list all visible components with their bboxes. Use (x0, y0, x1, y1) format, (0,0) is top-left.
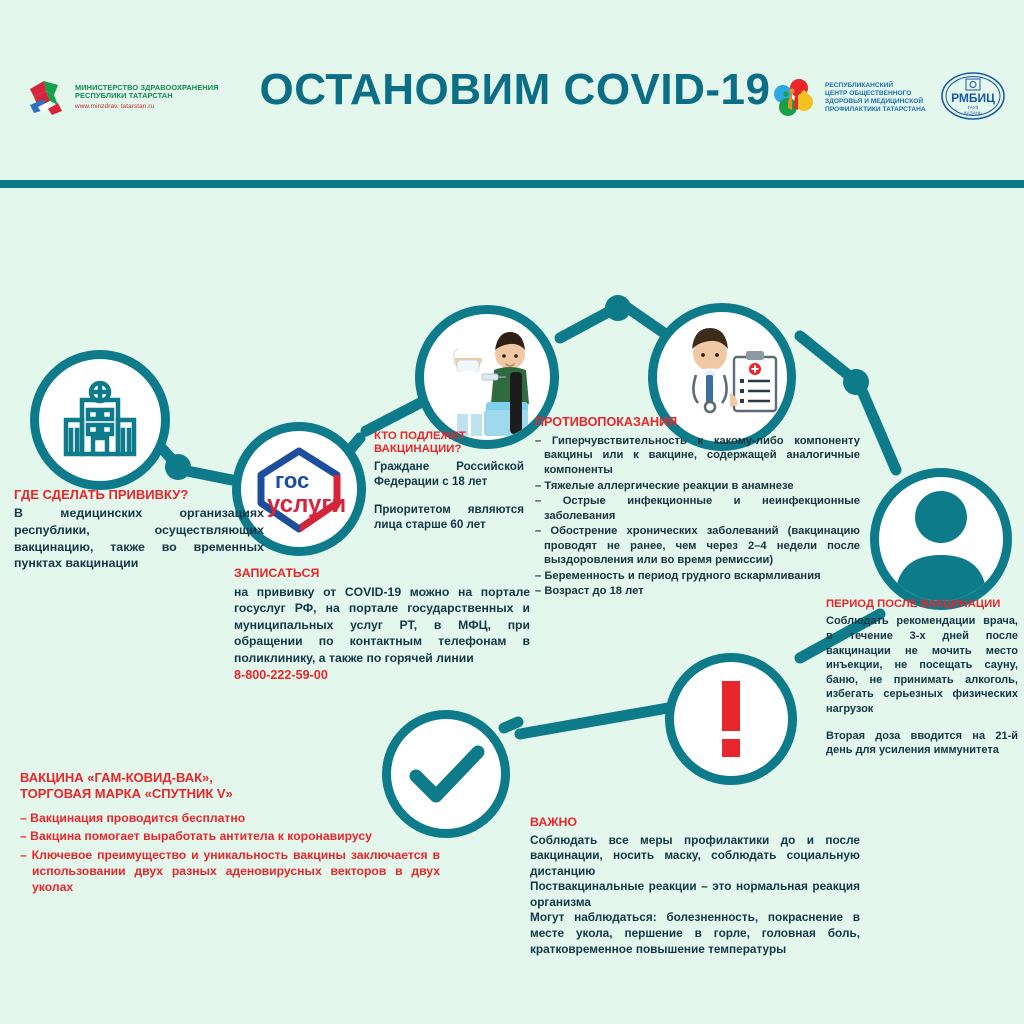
person-silhouette-icon (879, 477, 1003, 601)
vaccine-title-line1: ВАКЦИНА «ГАМ-КОВИД-ВАК», (20, 770, 213, 785)
who-body-1: Граждане Российской Федерации с 18 лет (374, 459, 524, 489)
rcoz-line1: РЕСПУБЛИКАНСКИЙ (825, 82, 926, 90)
rcoz-logo-text: РЕСПУБЛИКАНСКИЙ ЦЕНТР ОБЩЕСТВЕННОГО ЗДОР… (825, 82, 926, 114)
block-how-to-signup: ЗАПИСАТЬСЯ на прививку от COVID-19 можно… (234, 566, 530, 684)
rcoz-people-logo-icon (766, 72, 818, 124)
who-body-2: Приоритетом являются лица старше 60 лет (374, 502, 524, 532)
contraindications-title: ПРОТИВОПОКАЗАНИЯ (535, 415, 860, 430)
who-title: КТО ПОДЛЕЖИТ ВАКЦИНАЦИИ? (374, 430, 524, 456)
minzdrav-line2: РЕСПУБЛИКИ ТАТАРСТАН (75, 92, 219, 100)
svg-text:услуги: услуги (267, 491, 346, 518)
signup-body: на прививку от COVID-19 можно на портале… (234, 584, 530, 666)
minzdrav-url: www.minzdrav. tatarstan.ru (75, 103, 219, 110)
where-title: ГДЕ СДЕЛАТЬ ПРИВИВКУ? (14, 487, 264, 502)
block-who-is-eligible: КТО ПОДЛЕЖИТ ВАКЦИНАЦИИ? Граждане Россий… (374, 430, 524, 532)
list-item: – Ключевое преимущество и уникальность в… (20, 847, 440, 896)
signup-hotline-phone[interactable]: 8-800-222-59-00 (234, 667, 530, 684)
svg-text:ГАУЗ: ГАУЗ (968, 105, 979, 110)
svg-text:КАЗАНЬ: КАЗАНЬ (964, 111, 982, 116)
rcoz-logo: РЕСПУБЛИКАНСКИЙ ЦЕНТР ОБЩЕСТВЕННОГО ЗДОР… (766, 72, 926, 124)
node-warning[interactable] (665, 653, 797, 785)
list-item: – Возраст до 18 лет (535, 584, 860, 599)
who-spacer (374, 489, 524, 502)
block-where-to-vaccinate: ГДЕ СДЕЛАТЬ ПРИВИВКУ? В медицинских орга… (14, 487, 264, 572)
important-body-2: Поствакцинальные реакции – это нормальна… (530, 879, 860, 910)
block-important: ВАЖНО Соблюдать все меры профилактики до… (530, 815, 860, 957)
vaccine-title: ВАКЦИНА «ГАМ-КОВИД-ВАК», ТОРГОВАЯ МАРКА … (20, 770, 440, 801)
rcoz-line2: ЦЕНТР ОБЩЕСТВЕННОГО (825, 90, 926, 98)
contraindications-list: – Гиперчувствительность к какому-либо ко… (535, 434, 860, 599)
hospital-magnifier-icon (52, 372, 148, 468)
infographic-poster: МИНИСТЕРСТВО ЗДРАВООХРАНЕНИЯ РЕСПУБЛИКИ … (0, 0, 1024, 1024)
list-item: – Обострение хронических заболеваний (ва… (535, 524, 860, 568)
minzdrav-logo-text: МИНИСТЕРСТВО ЗДРАВООХРАНЕНИЯ РЕСПУБЛИКИ … (75, 84, 219, 111)
important-title: ВАЖНО (530, 815, 860, 830)
block-contraindications: ПРОТИВОПОКАЗАНИЯ – Гиперчувствительность… (535, 415, 860, 600)
svg-text:РМБИЦ: РМБИЦ (951, 91, 995, 105)
page-title: ОСТАНОВИМ COVID-19 (255, 68, 775, 112)
signup-title: ЗАПИСАТЬСЯ (234, 566, 530, 581)
where-body: В медицинских организациях республики, о… (14, 505, 264, 571)
list-item: – Гиперчувствительность к какому-либо ко… (535, 434, 860, 478)
important-body-1: Соблюдать все меры профилактики до и пос… (530, 833, 860, 880)
rcoz-line4: ПРОФИЛАКТИКИ ТАТАРСТАНА (825, 106, 926, 114)
node-hospital[interactable] (30, 350, 170, 490)
minzdrav-logo: МИНИСТЕРСТВО ЗДРАВООХРАНЕНИЯ РЕСПУБЛИКИ … (24, 70, 224, 124)
after-body-2: Вторая доза вводится на 21-й день для ус… (826, 729, 1018, 758)
list-item: – Вакцина помогает выработать антитела к… (20, 828, 440, 844)
svg-text:гос: гос (275, 468, 309, 493)
after-title: ПЕРИОД ПОСЛЕ ВАКЦИНАЦИИ (826, 598, 1018, 611)
who-title-line2: ВАКЦИНАЦИИ? (374, 443, 461, 455)
after-body-1: Соблюдать рекомендации врача, в течение … (826, 614, 1018, 716)
after-spacer (826, 717, 1018, 729)
nurse-vaccinating-patient-icon (424, 314, 550, 440)
poster-header: МИНИСТЕРСТВО ЗДРАВООХРАНЕНИЯ РЕСПУБЛИКИ … (0, 0, 1024, 178)
list-item: – Тяжелые аллергические реакции в анамне… (535, 479, 860, 494)
header-divider (0, 180, 1024, 188)
node-person[interactable] (870, 468, 1012, 610)
who-title-line1: КТО ПОДЛЕЖИТ (374, 430, 466, 442)
block-vaccine-info: ВАКЦИНА «ГАМ-КОВИД-ВАК», ТОРГОВАЯ МАРКА … (20, 770, 440, 897)
rcoz-line3: ЗДОРОВЬЯ И МЕДИЦИНСКОЙ (825, 98, 926, 106)
list-item: – Острые инфекционные и неинфекционные з… (535, 494, 860, 523)
vaccine-title-line2: ТОРГОВАЯ МАРКА «СПУТНИК V» (20, 786, 233, 801)
block-after-vaccination: ПЕРИОД ПОСЛЕ ВАКЦИНАЦИИ Соблюдать рекоме… (826, 598, 1018, 758)
list-item: – Беременность и период грудного вскармл… (535, 569, 860, 584)
important-body-3: Могут наблюдаться: болезненность, покрас… (530, 910, 860, 957)
vaccine-list: – Вакцинация проводится бесплатно – Вакц… (20, 810, 440, 895)
tatarstan-flag-logo-icon (24, 75, 68, 119)
rmbic-seal-logo-icon: РМБИЦ ГАУЗ КАЗАНЬ (940, 70, 1006, 122)
list-item: – Вакцинация проводится бесплатно (20, 810, 440, 826)
exclamation-mark-icon (683, 671, 779, 767)
